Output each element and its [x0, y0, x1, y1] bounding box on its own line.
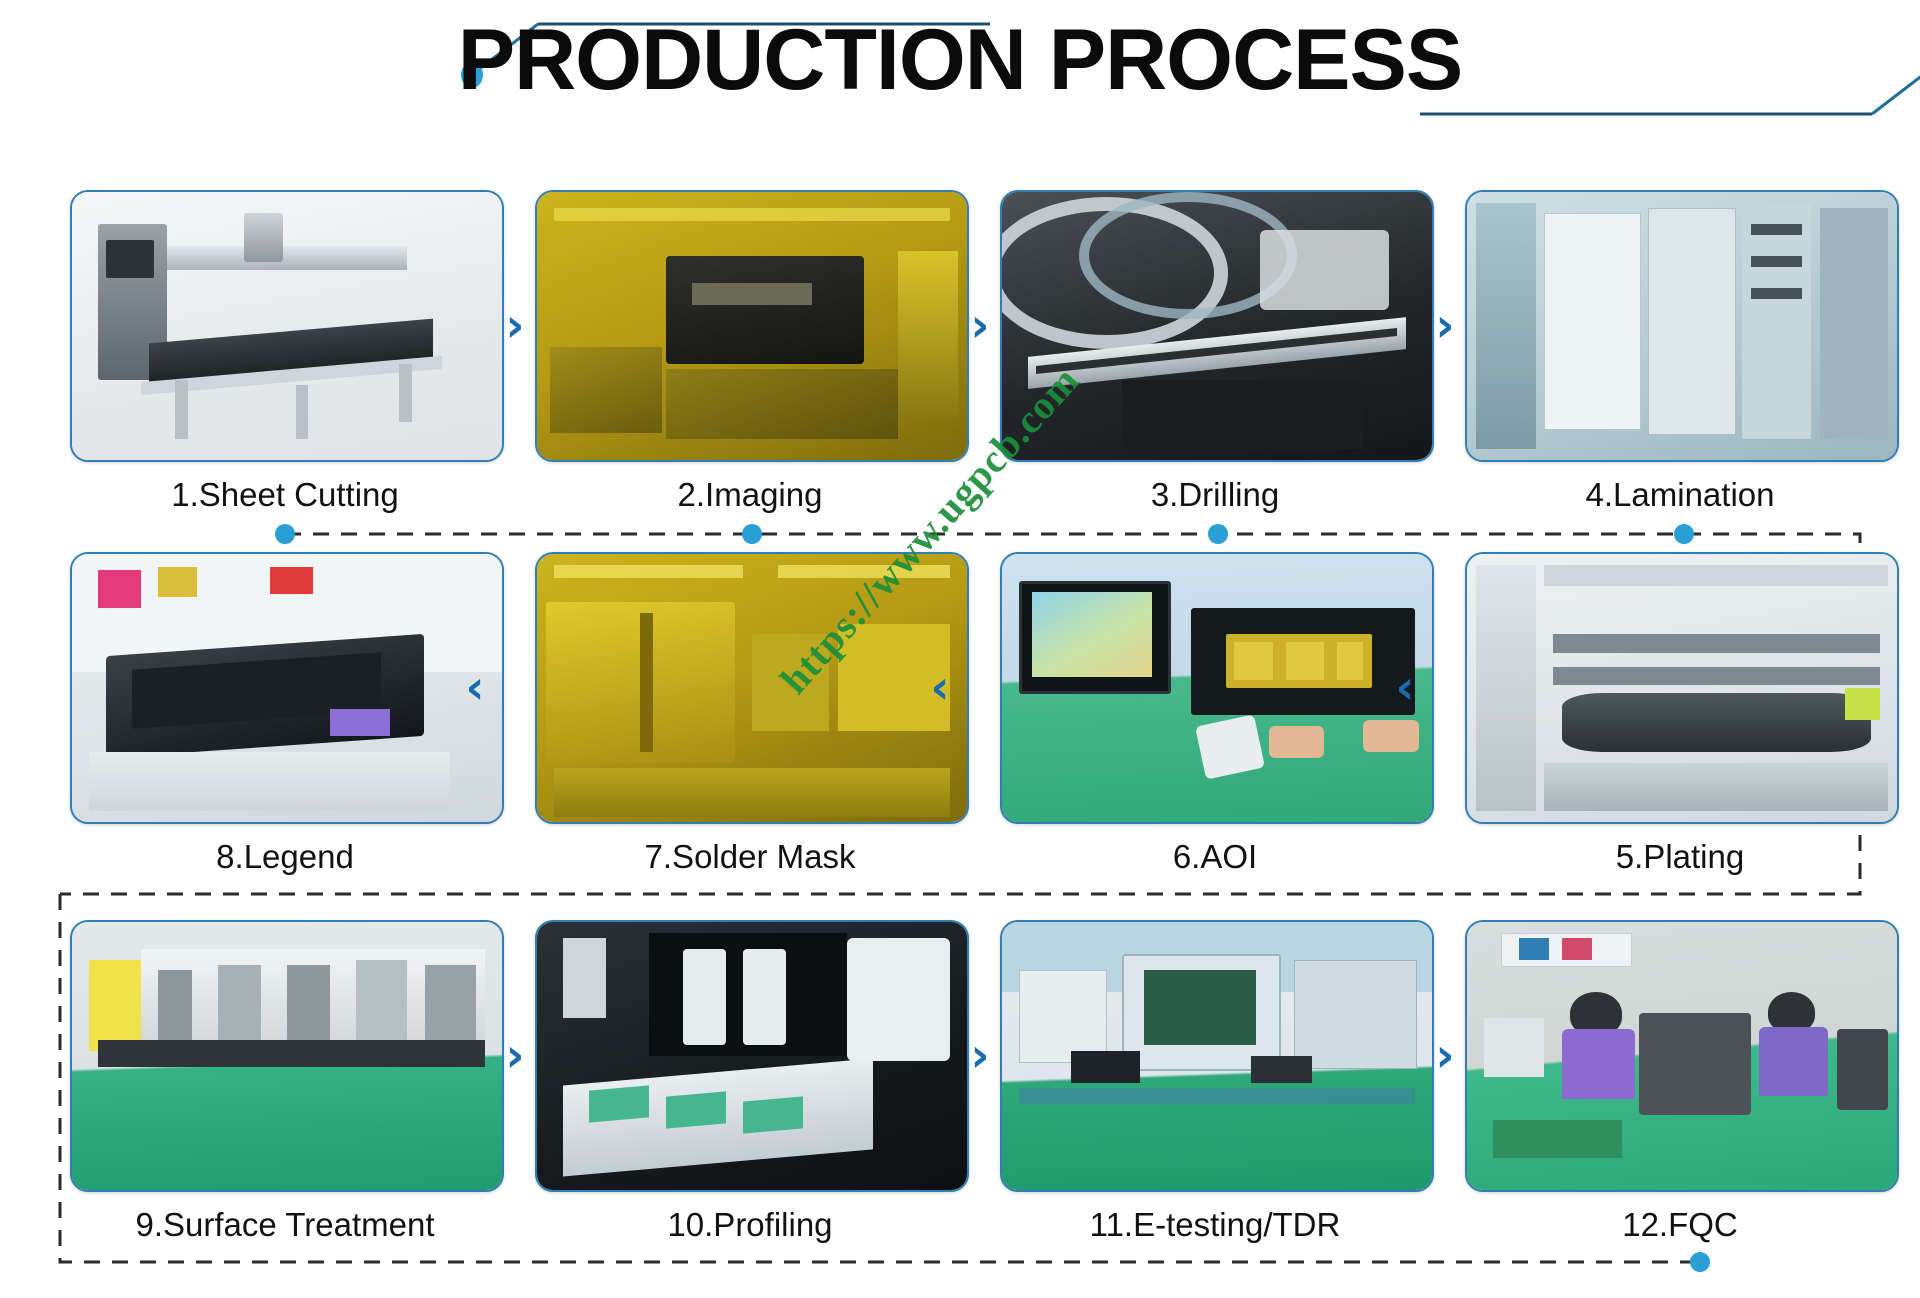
title-bar: PRODUCTION PROCESS: [0, 0, 1920, 132]
process-step-drilling[interactable]: 3.Drilling: [1000, 190, 1430, 514]
arrow-3-to-4: ›: [1422, 302, 1468, 348]
process-image-aoi[interactable]: [1000, 552, 1434, 824]
process-step-fqc[interactable]: 12.FQC: [1465, 920, 1895, 1244]
process-image-surface-treatment[interactable]: [70, 920, 504, 1192]
caption-aoi: 6.AOI: [1000, 838, 1430, 876]
scene-fqc: [1467, 922, 1897, 1190]
process-step-profiling[interactable]: 10.Profiling: [535, 920, 965, 1244]
caption-drilling: 3.Drilling: [1000, 476, 1430, 514]
process-image-imaging[interactable]: [535, 190, 969, 462]
process-step-legend[interactable]: 8.Legend: [70, 552, 500, 876]
process-row-2: 8.Legend ‹ 7.Solder Mask ‹: [0, 552, 1920, 872]
flow-dot: [275, 524, 295, 544]
arrow-6-to-7: ‹: [917, 664, 963, 710]
process-image-sheet-cutting[interactable]: [70, 190, 504, 462]
arrow-5-to-6: ‹: [1382, 664, 1428, 710]
caption-lamination: 4.Lamination: [1465, 476, 1895, 514]
scene-surface-treatment: [72, 922, 502, 1190]
process-image-lamination[interactable]: [1465, 190, 1899, 462]
arrow-9-to-10: ›: [492, 1032, 538, 1078]
arrow-7-to-8: ‹: [452, 664, 498, 710]
caption-profiling: 10.Profiling: [535, 1206, 965, 1244]
flow-dot: [1674, 524, 1694, 544]
process-step-lamination[interactable]: 4.Lamination: [1465, 190, 1895, 514]
process-step-plating[interactable]: 5.Plating: [1465, 552, 1895, 876]
flow-dot: [1690, 1252, 1710, 1272]
caption-surface-treatment: 9.Surface Treatment: [70, 1206, 500, 1244]
scene-e-testing: [1002, 922, 1432, 1190]
arrow-10-to-11: ›: [957, 1032, 1003, 1078]
scene-legend: [72, 554, 502, 822]
process-row-1: 1.Sheet Cutting › 2.Imaging ›: [0, 190, 1920, 510]
process-image-e-testing[interactable]: [1000, 920, 1434, 1192]
caption-e-testing: 11.E-testing/TDR: [1000, 1206, 1430, 1244]
process-step-sheet-cutting[interactable]: 1.Sheet Cutting: [70, 190, 500, 514]
scene-sheet-cutting: [72, 192, 502, 460]
caption-fqc: 12.FQC: [1465, 1206, 1895, 1244]
flow-dot: [742, 524, 762, 544]
caption-sheet-cutting: 1.Sheet Cutting: [70, 476, 500, 514]
scene-imaging: [537, 192, 967, 460]
process-step-imaging[interactable]: 2.Imaging: [535, 190, 965, 514]
process-step-surface-treatment[interactable]: 9.Surface Treatment: [70, 920, 500, 1244]
page-title: PRODUCTION PROCESS: [0, 10, 1920, 110]
scene-solder-mask: [537, 554, 967, 822]
arrow-11-to-12: ›: [1422, 1032, 1468, 1078]
process-image-fqc[interactable]: [1465, 920, 1899, 1192]
process-image-profiling[interactable]: [535, 920, 969, 1192]
scene-plating: [1467, 554, 1897, 822]
process-step-aoi[interactable]: 6.AOI: [1000, 552, 1430, 876]
process-image-solder-mask[interactable]: [535, 552, 969, 824]
arrow-1-to-2: ›: [492, 302, 538, 348]
flow-dot: [1208, 524, 1228, 544]
process-row-3: 9.Surface Treatment › 10.Profiling ›: [0, 920, 1920, 1240]
scene-aoi: [1002, 554, 1432, 822]
caption-solder-mask: 7.Solder Mask: [535, 838, 965, 876]
process-image-drilling[interactable]: [1000, 190, 1434, 462]
scene-drilling: [1002, 192, 1432, 460]
process-image-plating[interactable]: [1465, 552, 1899, 824]
process-step-solder-mask[interactable]: 7.Solder Mask: [535, 552, 965, 876]
scene-lamination: [1467, 192, 1897, 460]
caption-plating: 5.Plating: [1465, 838, 1895, 876]
arrow-2-to-3: ›: [957, 302, 1003, 348]
caption-legend: 8.Legend: [70, 838, 500, 876]
process-step-e-testing[interactable]: 11.E-testing/TDR: [1000, 920, 1430, 1244]
caption-imaging: 2.Imaging: [535, 476, 965, 514]
scene-profiling: [537, 922, 967, 1190]
process-image-legend[interactable]: [70, 552, 504, 824]
